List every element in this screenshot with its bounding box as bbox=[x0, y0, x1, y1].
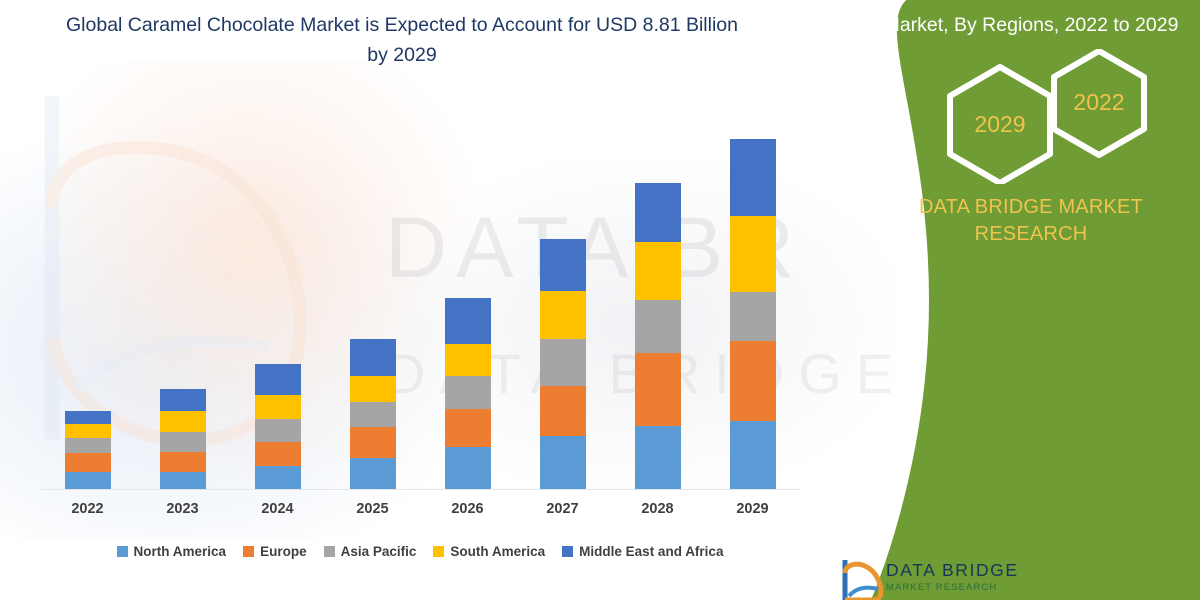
bar-segment[interactable] bbox=[160, 472, 206, 489]
stacked-bar[interactable] bbox=[160, 389, 206, 489]
bar-slot bbox=[135, 389, 230, 489]
bar-segment[interactable] bbox=[160, 452, 206, 472]
footer-logo-subtitle: MARKET RESEARCH bbox=[886, 582, 997, 593]
bar-segment[interactable] bbox=[65, 411, 111, 424]
bar-segment[interactable] bbox=[445, 344, 491, 376]
x-axis-tick-labels: 20222023202420252026202720282029 bbox=[40, 496, 800, 522]
bar-segment[interactable] bbox=[255, 466, 301, 489]
bar-segment[interactable] bbox=[65, 472, 111, 489]
bar-segment[interactable] bbox=[350, 402, 396, 427]
bar-slot bbox=[420, 298, 515, 489]
bar-segment[interactable] bbox=[635, 300, 681, 353]
stacked-bar[interactable] bbox=[255, 364, 301, 489]
x-axis-tick-label: 2024 bbox=[230, 501, 325, 517]
chart-legend: North AmericaEuropeAsia PacificSouth Ame… bbox=[40, 538, 800, 564]
bar-slot bbox=[230, 364, 325, 489]
page-title: Global Caramel Chocolate Market is Expec… bbox=[62, 10, 742, 70]
bar-segment[interactable] bbox=[635, 242, 681, 300]
x-axis-tick-label: 2027 bbox=[515, 501, 610, 517]
bar-segment[interactable] bbox=[350, 427, 396, 458]
stacked-bar[interactable] bbox=[730, 139, 776, 489]
legend-swatch bbox=[324, 546, 335, 557]
x-axis-line bbox=[40, 489, 800, 490]
stacked-bar[interactable] bbox=[350, 339, 396, 489]
bar-segment[interactable] bbox=[635, 353, 681, 426]
stacked-bar[interactable] bbox=[65, 411, 111, 489]
legend-item[interactable]: North America bbox=[117, 544, 227, 559]
x-axis-tick-label: 2022 bbox=[40, 501, 135, 517]
dbmr-bridge-icon bbox=[838, 556, 884, 600]
bar-segment[interactable] bbox=[255, 419, 301, 442]
bar-segment[interactable] bbox=[540, 291, 586, 339]
infographic-canvas: DATA BR DATA BRIDGE MARKET RESEARCH Glob… bbox=[0, 0, 1200, 600]
bar-segment[interactable] bbox=[350, 458, 396, 489]
x-axis-tick-label: 2025 bbox=[325, 501, 420, 517]
bar-segment[interactable] bbox=[255, 364, 301, 395]
bar-segment[interactable] bbox=[350, 376, 396, 402]
bar-segment[interactable] bbox=[65, 453, 111, 472]
footer-logo-name: DATA BRIDGE bbox=[886, 560, 1019, 581]
bar-segment[interactable] bbox=[445, 376, 491, 409]
bar-segment[interactable] bbox=[445, 409, 491, 447]
bar-segment[interactable] bbox=[730, 341, 776, 421]
hexagon-pair-icon: 2029 2022 bbox=[934, 49, 1164, 184]
footer-logo: DATA BRIDGE MARKET RESEARCH bbox=[838, 556, 1088, 600]
hexagon-badges: 2029 2022 bbox=[934, 49, 1164, 184]
brand-line-1: DATA BRIDGE MARKET bbox=[888, 194, 1174, 221]
legend-label: Europe bbox=[260, 544, 307, 559]
hexagon-2029-label: 2029 bbox=[974, 111, 1025, 137]
bar-segment[interactable] bbox=[540, 239, 586, 291]
legend-swatch bbox=[562, 546, 573, 557]
legend-item[interactable]: Middle East and Africa bbox=[562, 544, 723, 559]
panel-title: Market, By Regions, 2022 to 2029 bbox=[870, 0, 1200, 39]
bar-segment[interactable] bbox=[540, 386, 586, 436]
bar-segment[interactable] bbox=[160, 432, 206, 452]
brand-name: DATA BRIDGE MARKET RESEARCH bbox=[870, 184, 1200, 248]
bar-segment[interactable] bbox=[350, 339, 396, 376]
bar-segment[interactable] bbox=[445, 298, 491, 344]
stacked-bar[interactable] bbox=[445, 298, 491, 489]
bar-slot bbox=[325, 339, 420, 489]
legend-swatch bbox=[433, 546, 444, 557]
bar-segment[interactable] bbox=[160, 411, 206, 432]
bar-segment[interactable] bbox=[445, 447, 491, 489]
bar-segment[interactable] bbox=[160, 389, 206, 411]
legend-label: South America bbox=[450, 544, 545, 559]
bar-slot bbox=[40, 411, 135, 489]
bar-segment[interactable] bbox=[730, 292, 776, 341]
bar-segment[interactable] bbox=[635, 183, 681, 242]
brand-line-2: RESEARCH bbox=[888, 221, 1174, 248]
legend-swatch bbox=[243, 546, 254, 557]
bar-segment[interactable] bbox=[540, 339, 586, 386]
stacked-bar[interactable] bbox=[540, 239, 586, 489]
stacked-bar-group bbox=[40, 100, 800, 489]
bar-segment[interactable] bbox=[540, 436, 586, 489]
bar-segment[interactable] bbox=[635, 426, 681, 489]
bar-segment[interactable] bbox=[255, 442, 301, 466]
bar-segment[interactable] bbox=[730, 139, 776, 216]
hexagon-2022-label: 2022 bbox=[1073, 89, 1124, 115]
bar-segment[interactable] bbox=[730, 421, 776, 489]
legend-label: Asia Pacific bbox=[341, 544, 417, 559]
bar-segment[interactable] bbox=[255, 395, 301, 419]
legend-item[interactable]: South America bbox=[433, 544, 545, 559]
x-axis-tick-label: 2023 bbox=[135, 501, 230, 517]
bar-slot bbox=[515, 239, 610, 489]
legend-label: Middle East and Africa bbox=[579, 544, 723, 559]
chart-plot-area bbox=[40, 100, 800, 490]
x-axis-tick-label: 2028 bbox=[610, 501, 705, 517]
x-axis-tick-label: 2026 bbox=[420, 501, 515, 517]
bar-segment[interactable] bbox=[65, 424, 111, 438]
stacked-bar[interactable] bbox=[635, 183, 681, 489]
panel-content: Market, By Regions, 2022 to 2029 2029 20… bbox=[870, 0, 1200, 248]
legend-item[interactable]: Asia Pacific bbox=[324, 544, 417, 559]
bar-segment[interactable] bbox=[65, 438, 111, 453]
legend-label: North America bbox=[134, 544, 227, 559]
legend-swatch bbox=[117, 546, 128, 557]
bar-slot bbox=[610, 183, 705, 489]
bar-segment[interactable] bbox=[730, 216, 776, 292]
legend-item[interactable]: Europe bbox=[243, 544, 307, 559]
